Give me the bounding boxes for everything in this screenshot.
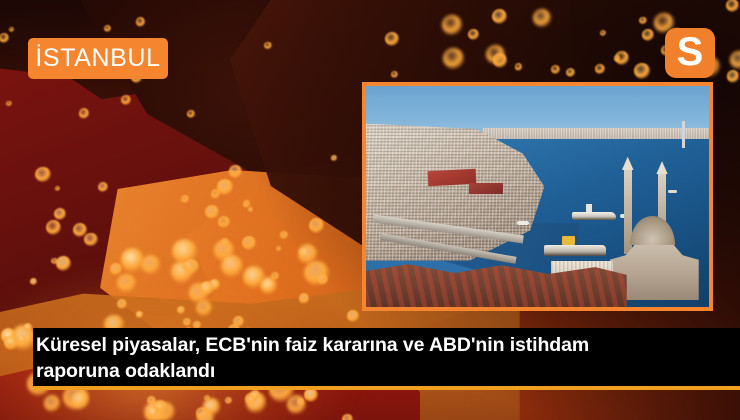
- city-badge-label: İSTANBUL: [35, 46, 160, 71]
- city-badge: İSTANBUL: [28, 38, 168, 79]
- photo-boat-c: [668, 190, 677, 193]
- photo-red-roofs-b: [469, 183, 503, 194]
- brand-logo-letter: S: [677, 32, 704, 72]
- photo-boat-a: [517, 221, 529, 225]
- news-card: İSTANBUL S: [0, 0, 740, 420]
- photo-ferry-a: [572, 212, 617, 220]
- photo-ferry-b: [544, 245, 606, 256]
- headline-text: Küresel piyasalar, ECB'nin faiz kararına…: [36, 332, 656, 384]
- photo-frame: [362, 82, 713, 311]
- photo-ferry-b-funnel: [562, 236, 576, 245]
- istanbul-photo: [366, 86, 709, 307]
- photo-bridge-tower: [682, 121, 685, 148]
- brand-logo[interactable]: S: [665, 28, 715, 78]
